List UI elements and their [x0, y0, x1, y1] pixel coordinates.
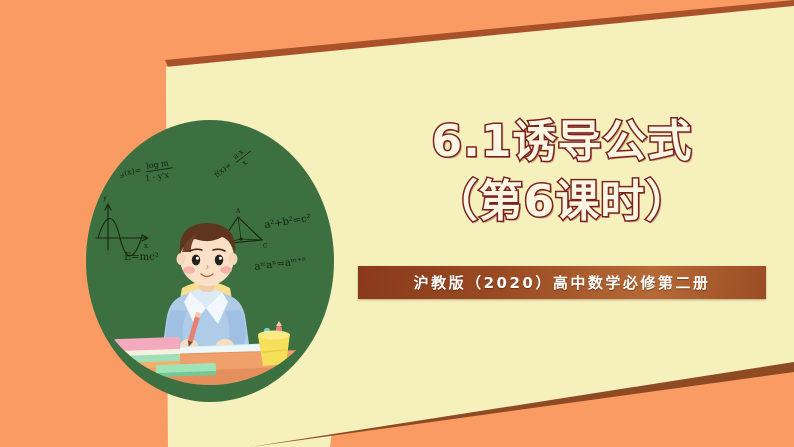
desk-leg-left-back	[169, 386, 190, 402]
formula-emc2: E=mc²	[124, 252, 159, 263]
desk-leg-right	[286, 379, 302, 402]
formula-log: g(x)= log m 1 - y'x	[118, 158, 175, 187]
desk-leg-right-back	[244, 382, 262, 402]
student-studying-illustration: y x g(x)= log m 1 - y'x f(x)= a·x x	[86, 120, 334, 402]
illustration-group: y x g(x)= log m 1 - y'x f(x)= a·x x	[86, 120, 334, 402]
slide-title: 6.1诱导公式 （第6课时）	[352, 112, 772, 232]
desk-leg-left	[138, 388, 160, 402]
formula-slanted: f(x)= a·x x	[211, 143, 257, 185]
pencil-cup	[258, 321, 290, 366]
textbook-edition-bar: 沪教版（2020）高中数学必修第二册	[358, 266, 766, 299]
book-flat	[156, 363, 216, 377]
textbook-edition-label: 沪教版（2020）高中数学必修第二册	[414, 272, 711, 293]
svg-text:1 - y'x: 1 - y'x	[144, 170, 170, 183]
formula-exponent: aᵐaⁿ=aᵐ⁺ⁿ	[254, 256, 307, 273]
slide-canvas: y x g(x)= log m 1 - y'x f(x)= a·x x	[0, 0, 794, 447]
sine-curve-graph	[96, 204, 148, 256]
svg-text:x: x	[144, 242, 148, 250]
svg-text:g(x)=: g(x)=	[118, 166, 142, 178]
book-stack	[114, 337, 180, 369]
svg-text:C: C	[263, 243, 268, 250]
svg-text:A: A	[235, 208, 241, 215]
title-line-1: 6.1诱导公式	[352, 112, 772, 172]
svg-text:f(x)=: f(x)=	[212, 160, 233, 179]
svg-text:y: y	[102, 194, 107, 202]
formula-pythagorean: a²+b²=c²	[264, 213, 312, 231]
svg-text:x: x	[240, 157, 249, 167]
title-line-2: （第6课时）	[352, 172, 772, 232]
